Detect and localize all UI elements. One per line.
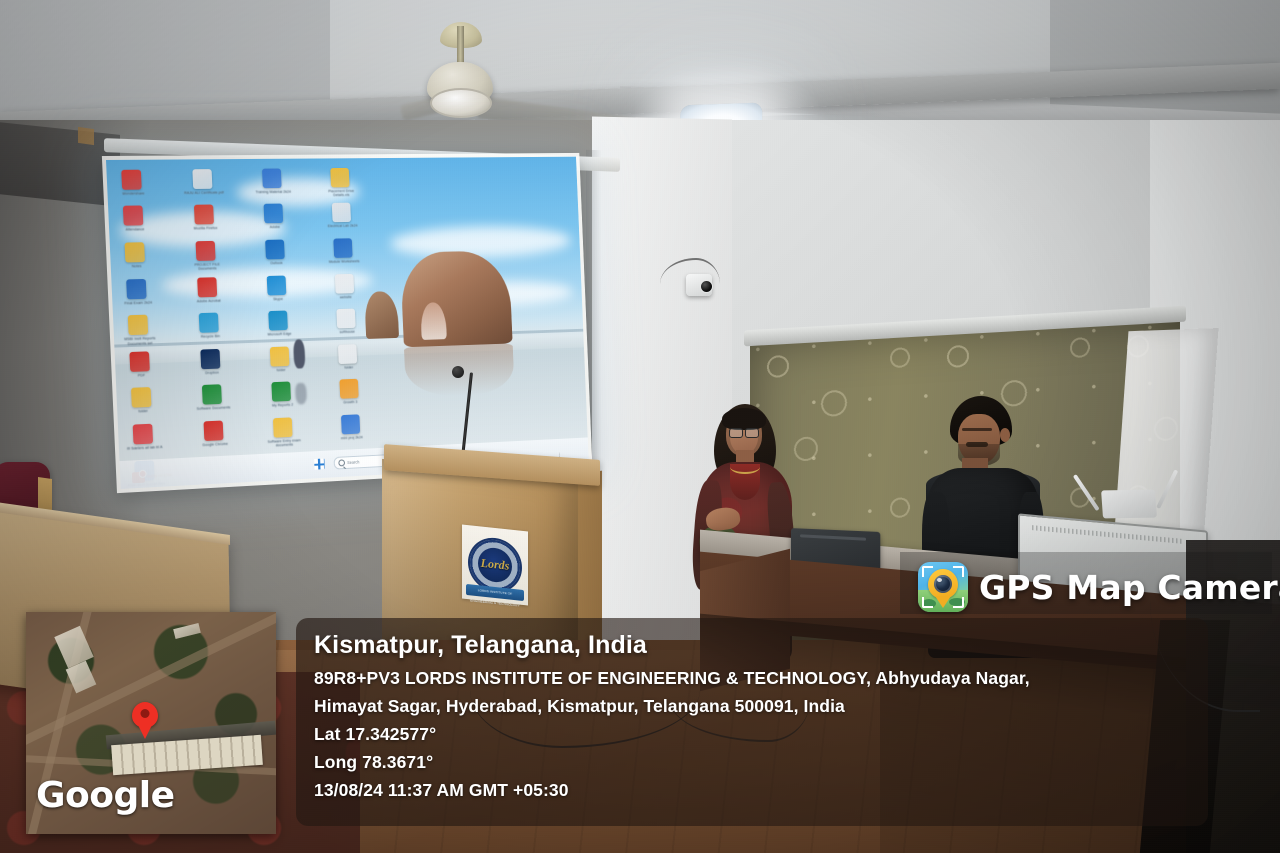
logo-bracket-icon [953, 566, 964, 577]
woman-fringe [722, 408, 766, 430]
ceiling-fan-hub [430, 88, 492, 118]
longitude-value: Long 78.3671° [314, 748, 1190, 776]
projector-screen-frame [102, 153, 593, 493]
address-line-1: 89R8+PV3 LORDS INSTITUTE OF ENGINEERING … [314, 664, 1190, 692]
logo-camera-lens-icon [934, 575, 952, 593]
wifi-router [1101, 490, 1157, 519]
geotag-info-panel: Kismatpur, Telangana, India 89R8+PV3 LOR… [296, 618, 1208, 826]
gps-map-camera-logo-icon [918, 562, 968, 612]
cctv-lens-icon [700, 280, 713, 293]
map-location-pin-icon [132, 702, 158, 728]
logo-bracket-icon [922, 597, 933, 608]
emblem-wordmark: Lords [481, 556, 510, 574]
necklace [730, 460, 760, 474]
institute-emblem: Lords LORDS INSTITUTE OF ENGINEERING & T… [462, 525, 528, 606]
map-building [173, 623, 201, 639]
logo-bracket-icon [922, 566, 933, 577]
microphone-icon [452, 366, 464, 378]
map-thumbnail[interactable]: Google [26, 612, 276, 834]
logo-bracket-icon [953, 597, 964, 608]
man-eyebrow [962, 428, 992, 431]
address-line-2: Himayat Sagar, Hyderabad, Kismatpur, Tel… [314, 692, 1190, 720]
location-title: Kismatpur, Telangana, India [314, 630, 1190, 660]
photo-canvas: WondershareRAJU ALI Certificate.pdfTrain… [0, 0, 1280, 853]
latitude-value: Lat 17.342577° [314, 720, 1190, 748]
capture-timestamp: 13/08/24 11:37 AM GMT +05:30 [314, 776, 1190, 804]
man-ear [1000, 428, 1010, 442]
google-watermark: Google [36, 775, 175, 816]
ceiling-fan-rod [457, 26, 464, 66]
eyeglasses-icon [729, 428, 759, 436]
emblem-ribbon: LORDS INSTITUTE OF ENGINEERING & TECHNOL… [466, 584, 524, 601]
map-building [54, 626, 93, 668]
gps-map-camera-watermark: GPS Map Camera [916, 560, 1280, 614]
app-wordmark: GPS Map Camera [979, 568, 1280, 607]
projector-screen: WondershareRAJU ALI Certificate.pdfTrain… [106, 157, 589, 489]
